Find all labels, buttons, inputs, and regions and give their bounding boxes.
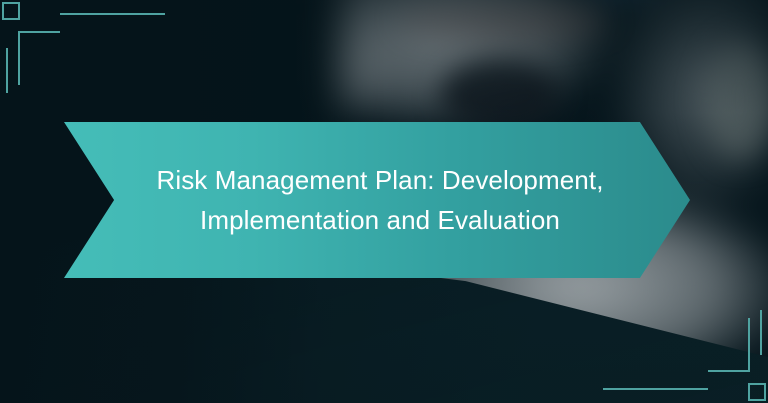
title-slide: Risk Management Plan: Development, Imple… (0, 0, 768, 403)
corner-vertical-line (6, 48, 8, 93)
corner-bracket-bottom-right-icon (648, 283, 768, 403)
corner-horizontal-line (603, 388, 708, 390)
corner-bracket-top-left-icon (0, 0, 120, 120)
page-title-line-2: Implementation and Evaluation (156, 200, 603, 240)
corner-elbow-horizontal-line (708, 370, 748, 372)
corner-vertical-line (760, 310, 762, 355)
corner-horizontal-line (60, 13, 165, 15)
corner-elbow-horizontal-line (20, 31, 60, 33)
corner-elbow-vertical-line (748, 318, 750, 372)
corner-square-icon (748, 383, 766, 401)
corner-square-icon (2, 2, 20, 20)
corner-elbow-vertical-line (18, 31, 20, 85)
page-title: Risk Management Plan: Development, Imple… (156, 160, 603, 240)
page-title-line-1: Risk Management Plan: Development, (156, 160, 603, 200)
title-banner: Risk Management Plan: Development, Imple… (64, 122, 690, 278)
